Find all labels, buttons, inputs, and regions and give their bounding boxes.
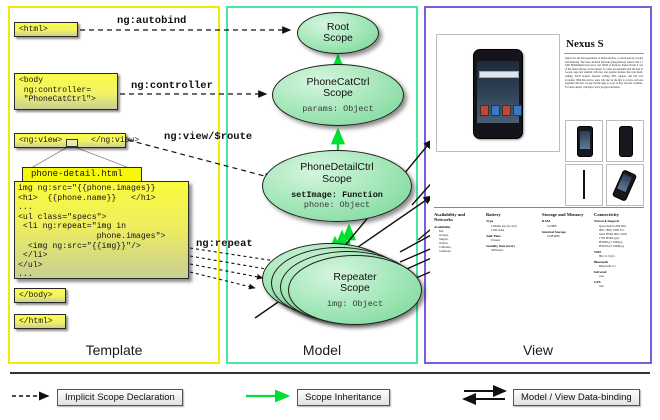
scope-prop: img: Object xyxy=(327,299,383,309)
scope-prop: params: Object xyxy=(302,104,373,114)
spec-value: true xyxy=(594,274,644,278)
spec-value: 1500 mAh xyxy=(486,228,536,232)
legend-item-implicit-scope: Implicit Scope Declaration xyxy=(57,389,183,406)
code-tag-html-close: </html> xyxy=(14,314,66,329)
phone-title: Nexus S xyxy=(566,38,604,50)
spec-value: Vodafone xyxy=(434,249,484,253)
connector-label-repeat: ng:repeat xyxy=(196,238,253,250)
legend-item-scope-inheritance: Scope Inheritance xyxy=(297,389,390,406)
scope-name-line2: Scope xyxy=(340,282,370,294)
phone-tilted-thumb-icon xyxy=(612,169,637,202)
column-label-model: Model xyxy=(228,342,416,358)
spec-value: Bluetooth 2.1 xyxy=(594,264,644,268)
title-divider xyxy=(564,53,644,54)
spec-column-storage: Storage and Memory RAM 512MB Internal St… xyxy=(542,212,592,238)
phone-search-bar xyxy=(479,71,519,78)
detail-file-title: phone-detail.html xyxy=(22,167,142,181)
scope-name-line1: PhoneDetailCtrl xyxy=(300,161,374,173)
scope-name-line2: Scope xyxy=(322,173,352,185)
scope-phonedetailctrl: PhoneDetailCtrl Scope setImage: Function… xyxy=(262,150,412,222)
scope-name-line2: Scope xyxy=(323,87,353,99)
connector-label-autobind: ng:autobind xyxy=(117,15,186,27)
connector-label-route: ng:view/$route xyxy=(164,131,252,143)
scope-name-line2: Scope xyxy=(323,32,353,44)
code-tag-body-close: </body> xyxy=(14,288,66,303)
phone-front-thumb-icon xyxy=(577,126,593,157)
spec-value: 802.11 b/g/n xyxy=(594,254,644,258)
spec-value: HSUPA (5.76Mbps) xyxy=(594,244,644,248)
rendered-view-page: Nexus S Nexus S is the next generation o… xyxy=(430,12,646,342)
code-tag-html-open: <html> xyxy=(14,22,78,37)
legend-double-arrow-icon xyxy=(464,391,505,399)
legend-divider xyxy=(10,372,650,374)
phone-front-image xyxy=(473,49,523,139)
thumb-screen xyxy=(617,174,632,192)
diagram-canvas: Template Model View xyxy=(0,0,660,420)
spec-value: 6 hours xyxy=(486,238,536,242)
dock-icon xyxy=(502,105,511,116)
thumb-screen xyxy=(580,131,590,149)
scope-prop: phone: Object xyxy=(304,200,370,210)
phone-back-thumb-icon xyxy=(619,126,633,157)
spec-value: 428 hours xyxy=(486,248,536,252)
scope-name-line1: Root xyxy=(327,21,349,33)
specs-divider xyxy=(434,207,644,208)
scope-name-line1: Repeater xyxy=(333,271,376,283)
scope-root: Root Scope xyxy=(297,12,379,54)
spec-column-connectivity: Connectivity Network Support Quad-band G… xyxy=(594,212,644,288)
scope-name-line1: PhoneCatCtrl xyxy=(306,76,369,88)
code-tag-body-open: <body ng:controller= "PhoneCatCtrl"> xyxy=(14,73,118,110)
dock-icon xyxy=(491,105,500,116)
scope-prop: setImage: Function xyxy=(291,190,383,200)
main-phone-image-frame xyxy=(436,34,560,152)
thumbnail-phone-edge[interactable] xyxy=(565,164,603,206)
phone-description: Nexus S is the next generation of Nexus … xyxy=(565,57,643,113)
spec-heading: Storage and Memory xyxy=(542,212,592,217)
phone-edge-thumb-icon xyxy=(583,170,585,199)
column-label-view: View xyxy=(426,342,650,358)
spec-value: 16384MB xyxy=(542,234,592,238)
ngview-slot-icon xyxy=(66,139,78,147)
dock-icon xyxy=(513,105,522,116)
detail-file-code: img ng:src="{{phone.images}} <h1> {{phon… xyxy=(14,181,189,279)
scope-phonecatctrl: PhoneCatCtrl Scope params: Object xyxy=(272,64,404,126)
spec-column-battery: Battery Type Lithium Ion (Li-Ion) 1500 m… xyxy=(486,212,536,252)
spec-heading: Battery xyxy=(486,212,536,217)
column-label-template: Template xyxy=(10,342,218,358)
spec-heading: Connectivity xyxy=(594,212,644,217)
phone-specs-table: Availability and Networks Availability M… xyxy=(434,212,644,332)
spec-value: true xyxy=(594,284,644,288)
connector-label-controller: ng:controller xyxy=(131,80,213,92)
scope-repeater: Repeater Scope img: Object xyxy=(288,255,422,325)
legend-item-data-binding: Model / View Data-binding xyxy=(513,389,640,406)
thumbnail-phone-front[interactable] xyxy=(565,120,603,162)
dock-icon xyxy=(480,105,489,116)
thumbnail-phone-tilted[interactable] xyxy=(606,164,644,206)
thumbnail-phone-back[interactable] xyxy=(606,120,644,162)
spec-heading: Availability and Networks xyxy=(434,212,484,223)
phone-screen xyxy=(477,61,519,123)
spec-column-availability: Availability and Networks Availability M… xyxy=(434,212,484,253)
phone-dock-icons xyxy=(480,105,522,114)
spec-value: 512MB xyxy=(542,224,592,228)
